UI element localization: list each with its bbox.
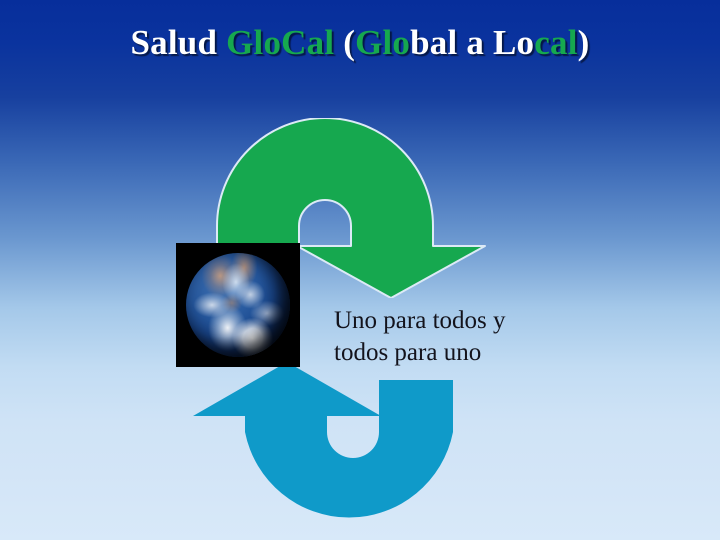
caption-text: Uno para todos y todos para uno — [334, 305, 634, 369]
title-segment-5: bal a Lo — [410, 23, 534, 62]
page-title: Salud GloCal (Global a Local) — [0, 20, 720, 66]
title-segment-4: Glo — [355, 23, 410, 62]
earth-terminator-shading — [186, 253, 290, 357]
slide-canvas: Salud GloCal (Global a Local) Uno para t… — [0, 0, 720, 540]
title-segment-3: ( — [334, 23, 355, 62]
title-segment-7: ) — [578, 23, 590, 62]
caption-line-1: Uno para todos y — [334, 305, 634, 337]
blue-curved-arrow-icon — [175, 358, 475, 523]
title-segment-6: cal — [534, 23, 577, 62]
title-segment-1: Salud — [131, 23, 227, 62]
caption-line-2: todos para uno — [334, 337, 634, 369]
title-segment-2: GloCal — [226, 23, 334, 62]
earth-photo — [176, 243, 300, 367]
